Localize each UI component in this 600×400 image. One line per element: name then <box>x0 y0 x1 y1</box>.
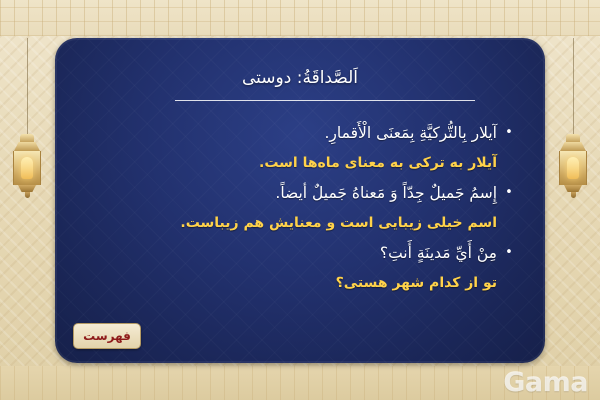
list-item: • آیلار بِالتُّرکیَّةِ بِمَعنَى الْأَقما… <box>83 120 517 145</box>
persian-translation: تو از کدام شهر هستی؟ <box>83 275 501 291</box>
lantern-left-icon <box>10 38 44 200</box>
decorative-top-band <box>0 0 600 36</box>
index-button-label: فهرست <box>83 329 131 343</box>
arabic-sentence: إِسمُ جَمیلٌ جِدّاً وَ مَعناهُ جَمیلٌ أی… <box>83 184 501 202</box>
slide-title-wrap: اَلصَّداقَةُ: دوستی <box>55 68 545 88</box>
list-item: تو از کدام شهر هستی؟ <box>83 270 517 295</box>
slide-root: اَلصَّداقَةُ: دوستی • آیلار بِالتُّرکیَّ… <box>0 0 600 400</box>
lantern-lamp <box>12 134 42 200</box>
arabic-sentence: مِنْ أَيِّ مَدینَةٍ أَنتِ؟ <box>83 244 501 262</box>
list-item: • مِنْ أَيِّ مَدینَةٍ أَنتِ؟ <box>83 240 517 265</box>
lantern-cord <box>573 38 574 134</box>
index-button[interactable]: فهرست <box>73 323 141 349</box>
lantern-cord <box>27 38 28 134</box>
list-item: آیلار به ترکی به معنای ماه‌ها است. <box>83 150 517 175</box>
list-item: اسم خیلی زیبایی است و معنایش هم زیباست. <box>83 210 517 235</box>
persian-translation: آیلار به ترکی به معنای ماه‌ها است. <box>83 155 501 171</box>
persian-translation: اسم خیلی زیبایی است و معنایش هم زیباست. <box>83 215 501 231</box>
bullet-icon: • <box>501 186 517 199</box>
title-divider <box>175 100 475 101</box>
list-item: • إِسمُ جَمیلٌ جِدّاً وَ مَعناهُ جَمیلٌ … <box>83 180 517 205</box>
watermark-text: Gama <box>503 367 588 398</box>
lantern-lamp <box>558 134 588 200</box>
content-card: اَلصَّداقَةُ: دوستی • آیلار بِالتُّرکیَّ… <box>55 38 545 363</box>
lantern-right-icon <box>556 38 590 200</box>
arabic-sentence: آیلار بِالتُّرکیَّةِ بِمَعنَى الْأَقمارِ… <box>83 124 501 142</box>
bullet-icon: • <box>501 246 517 259</box>
bullet-icon: • <box>501 126 517 139</box>
sentence-list: • آیلار بِالتُّرکیَّةِ بِمَعنَى الْأَقما… <box>83 120 517 300</box>
watermark: Gama <box>503 367 588 398</box>
page-title: اَلصَّداقَةُ: دوستی <box>55 68 545 88</box>
